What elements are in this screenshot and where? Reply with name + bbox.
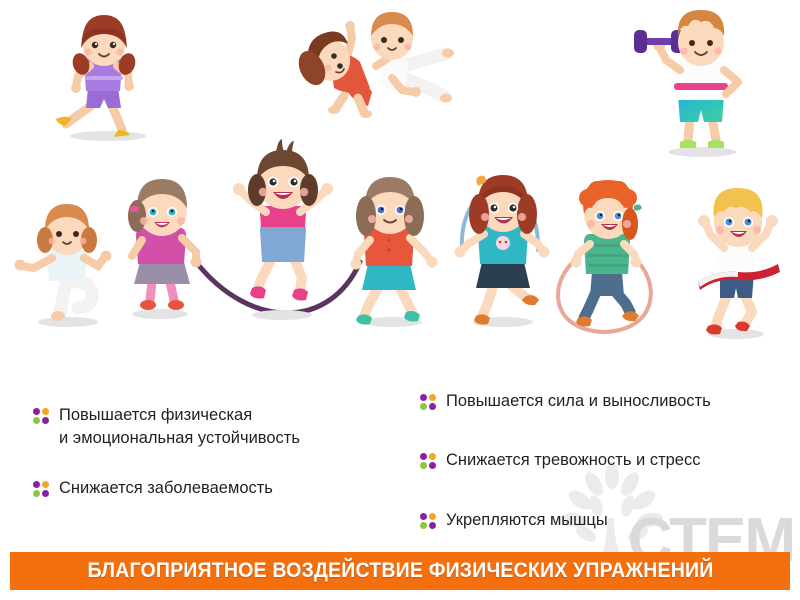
kid-rope-holder-girl-pink xyxy=(128,179,202,319)
benefit-label: Укрепляются мышцы xyxy=(446,509,608,532)
illustration-children-exercising xyxy=(0,0,800,380)
four-dot-bullet-icon xyxy=(420,394,437,411)
benefits-right-column: Повышается сила и выносливость Снижается… xyxy=(420,390,790,568)
four-dot-bullet-icon xyxy=(420,453,437,470)
kid-running-girl-purple xyxy=(56,15,146,141)
benefits-section: Повышается физическая и эмоциональная ус… xyxy=(0,390,800,545)
list-item: Повышается физическая и эмоциональная ус… xyxy=(33,404,403,451)
children-illustration-svg xyxy=(0,0,800,380)
poster-root: СТЕМ Повышается физическая и эмоциональн… xyxy=(0,0,800,600)
list-item: Снижается заболеваемость xyxy=(33,477,403,500)
kid-jumping-girl-overalls xyxy=(233,139,333,320)
kid-cartwheel-girl-white xyxy=(371,12,454,103)
list-item: Укрепляются мышцы xyxy=(420,509,790,532)
kid-rope-girl-green xyxy=(558,180,651,332)
kid-stretching-girl-red xyxy=(294,21,372,118)
four-dot-bullet-icon xyxy=(33,408,50,425)
jump-rope-long xyxy=(196,262,360,313)
benefit-label: Повышается физическая и эмоциональная ус… xyxy=(59,404,300,451)
benefit-label: Повышается сила и выносливость xyxy=(446,390,711,413)
kid-dumbbell-boy xyxy=(634,10,738,157)
list-item: Повышается сила и выносливость xyxy=(420,390,790,413)
kid-rope-girl-blue xyxy=(455,175,550,327)
banner-title: БЛАГОПРИЯТНОЕ ВОЗДЕЙСТВИЕ ФИЗИЧЕСКИХ УПР… xyxy=(87,559,713,583)
four-dot-bullet-icon xyxy=(420,513,437,530)
benefit-label: Снижается тревожность и стресс xyxy=(446,449,701,472)
kid-yoga-girl xyxy=(15,204,112,327)
kid-running-girl-orange xyxy=(351,177,438,327)
benefits-left-column: Повышается физическая и эмоциональная ус… xyxy=(33,404,403,526)
benefit-label: Снижается заболеваемость xyxy=(59,477,273,500)
four-dot-bullet-icon xyxy=(33,481,50,498)
list-item: Снижается тревожность и стресс xyxy=(420,449,790,472)
kid-finish-line-boy xyxy=(698,188,780,339)
bottom-banner: БЛАГОПРИЯТНОЕ ВОЗДЕЙСТВИЕ ФИЗИЧЕСКИХ УПР… xyxy=(10,552,790,590)
